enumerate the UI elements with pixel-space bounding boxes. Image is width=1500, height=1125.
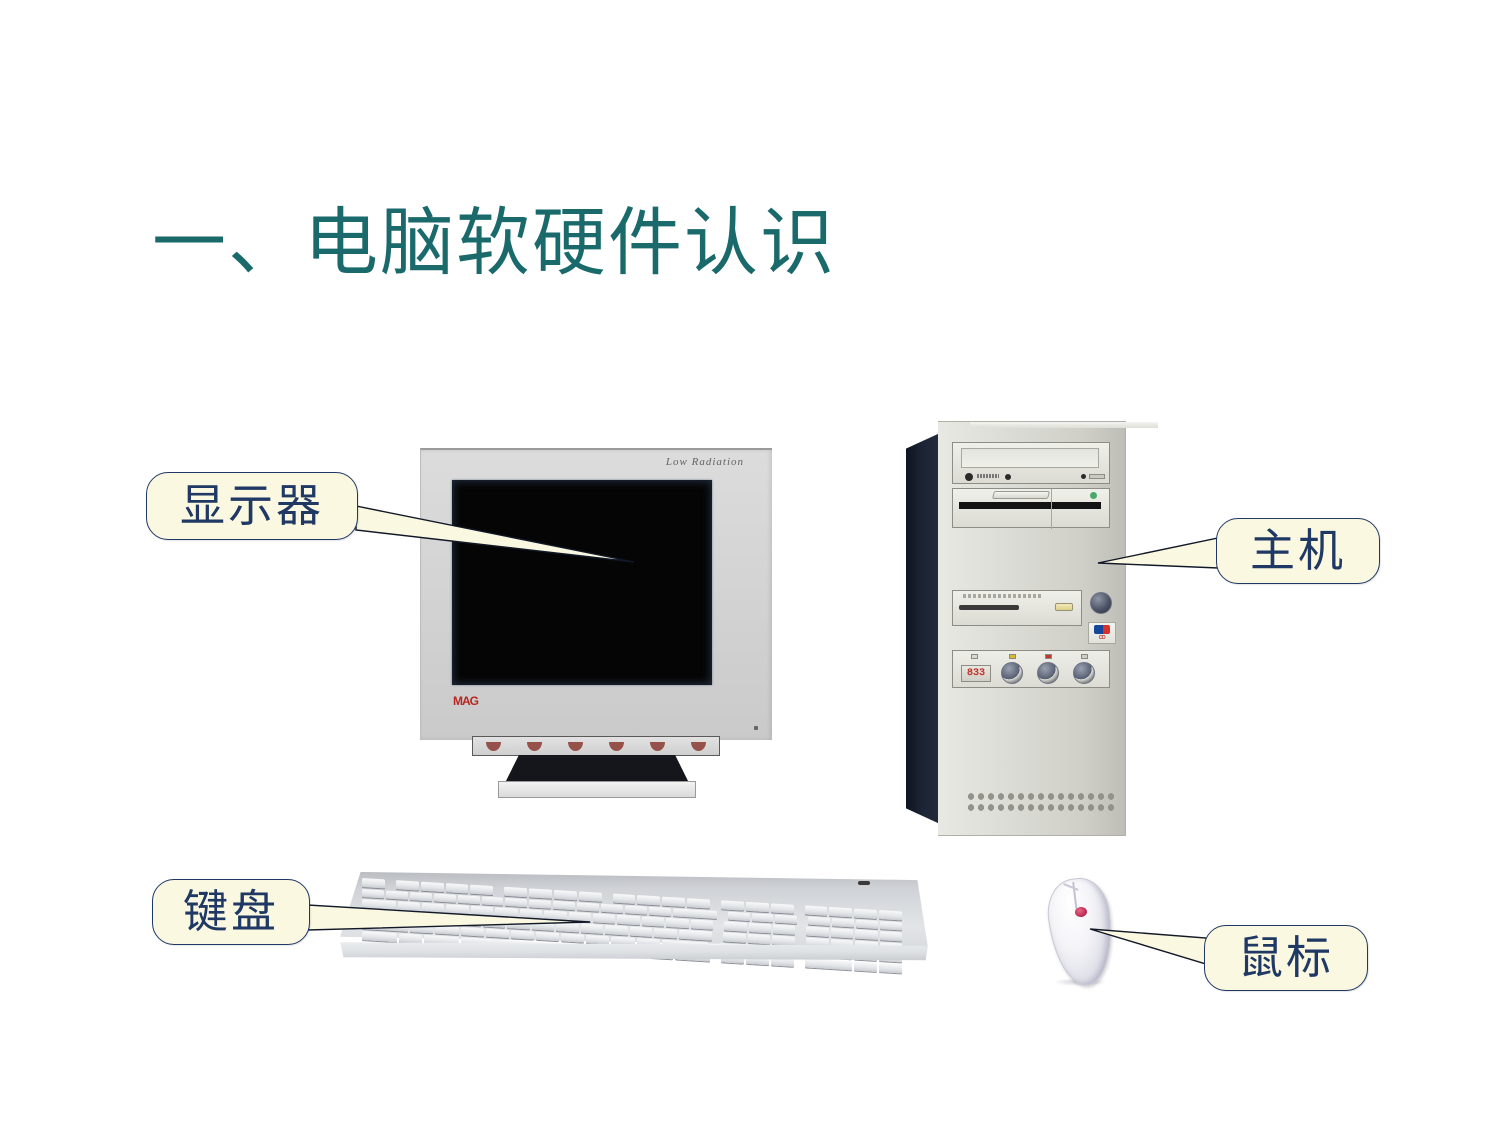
callout-keyboard-label: 键盘: [183, 890, 279, 935]
callout-mouse-label: 鼠标: [1238, 936, 1334, 981]
callout-keyboard[interactable]: 键盘: [152, 879, 310, 945]
mouse-leader-tail: [1090, 929, 1206, 964]
monitor-leader-tail: [356, 506, 634, 562]
slide-canvas: 一、电脑软硬件认识 Low Radiation MAG: [0, 0, 1500, 1125]
callout-monitor[interactable]: 显示器: [146, 472, 358, 540]
callout-case[interactable]: 主机: [1216, 518, 1380, 584]
keyboard-leader-tail: [308, 905, 590, 930]
case-leader-tail: [1098, 538, 1218, 568]
callout-monitor-label: 显示器: [180, 484, 324, 529]
callout-mouse[interactable]: 鼠标: [1204, 925, 1368, 991]
callout-case-label: 主机: [1250, 529, 1346, 574]
